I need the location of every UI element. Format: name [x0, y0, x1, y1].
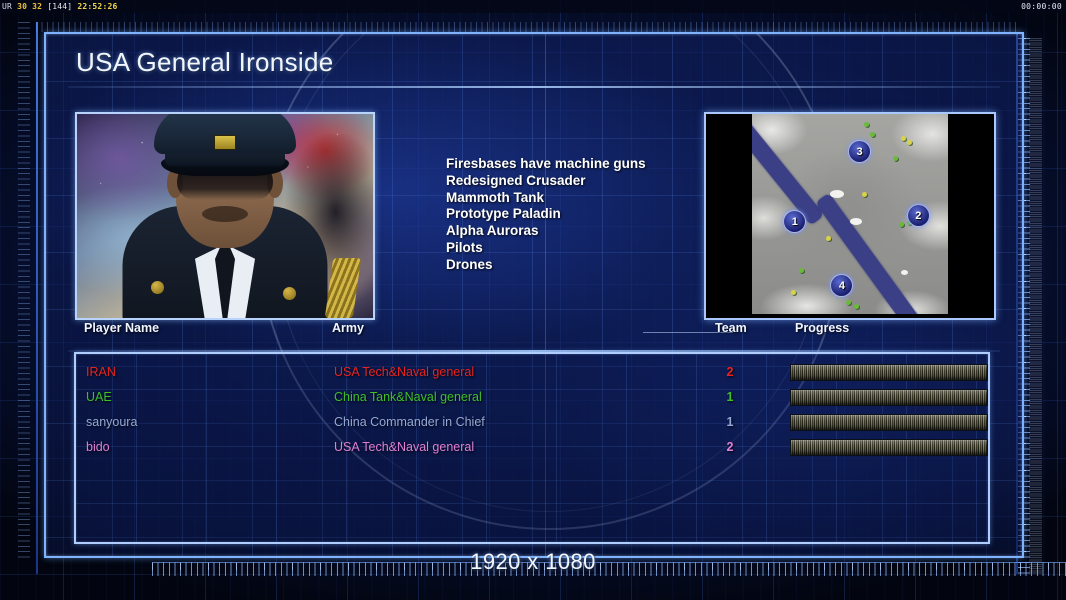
- right-ruler-shade: [1029, 38, 1042, 574]
- game-loading-screen: UR 30 32 [144] 22:52:26 00:00:00 USA Gen…: [0, 0, 1066, 600]
- player-team: 1: [720, 385, 740, 410]
- start-position-marker[interactable]: 3: [848, 140, 871, 163]
- ability-item: Mammoth Tank: [446, 190, 746, 207]
- column-header-team: Team: [715, 321, 747, 335]
- player-army: USA Tech&Naval general: [334, 435, 474, 460]
- main-panel: USA General Ironside: [44, 32, 1024, 558]
- player-name: sanyoura: [86, 410, 137, 435]
- table-row: bido USA Tech&Naval general 2: [76, 435, 988, 460]
- tree-cluster-icon: [864, 122, 869, 127]
- table-header-row: Player Name Army Team Progress: [46, 321, 1022, 343]
- tree-cluster-icon: [862, 192, 867, 197]
- uniform-button-left: [151, 281, 164, 294]
- player-army: USA Tech&Naval general: [334, 360, 474, 385]
- local-time: 22:52:26: [77, 2, 117, 11]
- left-ruler-strip: [18, 22, 30, 562]
- tree-cluster-icon: [870, 132, 875, 137]
- left-edge-line: [36, 22, 38, 574]
- resolution-label: 1920 x 1080: [0, 549, 1066, 575]
- player-progress-bar: [790, 364, 988, 381]
- net-ping: [144]: [47, 2, 72, 11]
- player-army: China Tank&Naval general: [334, 385, 482, 410]
- table-row: IRAN USA Tech&Naval general 2: [76, 360, 988, 385]
- player-progress-bar: [790, 414, 988, 431]
- general-portrait-frame: [75, 112, 375, 320]
- net-value-a: 30: [17, 2, 27, 11]
- player-army: China Commander in Chief: [334, 410, 485, 435]
- player-progress-bar: [790, 439, 988, 456]
- player-name: UAE: [86, 385, 112, 410]
- tree-cluster-icon: [907, 140, 912, 145]
- top-ruler-strip: [36, 22, 1016, 32]
- cap-insignia-icon: [214, 135, 236, 150]
- tree-cluster-icon: [901, 136, 906, 141]
- terrain-highlight: [850, 218, 862, 225]
- table-row: UAE China Tank&Naval general 1: [76, 385, 988, 410]
- players-table: IRAN USA Tech&Naval general 2 UAE China …: [74, 352, 990, 544]
- column-header-player-name: Player Name: [84, 321, 159, 335]
- general-info-section: Firesbases have machine guns Redesigned …: [46, 92, 1022, 338]
- ability-item: Drones: [446, 257, 746, 274]
- table-row: sanyoura China Commander in Chief 1: [76, 410, 988, 435]
- tree-cluster-icon: [854, 304, 859, 309]
- uniform-button-right: [283, 287, 296, 300]
- terrain-highlight: [901, 270, 908, 275]
- ability-item: Prototype Paladin: [446, 206, 746, 223]
- network-stats: UR 30 32 [144] 22:52:26: [2, 1, 118, 12]
- start-position-marker[interactable]: 2: [907, 204, 930, 227]
- river-segment: [752, 114, 824, 226]
- column-header-progress: Progress: [795, 321, 849, 335]
- general-portrait-image: [77, 114, 373, 318]
- game-clock: 00:00:00: [1021, 1, 1062, 12]
- player-name: IRAN: [86, 360, 116, 385]
- player-name: bido: [86, 435, 110, 460]
- net-label: UR: [2, 2, 12, 11]
- player-team: 1: [720, 410, 740, 435]
- net-value-b: 32: [32, 2, 42, 11]
- general-abilities-list: Firesbases have machine guns Redesigned …: [406, 156, 746, 274]
- title-divider: [68, 86, 1000, 88]
- ability-item: Alpha Auroras: [446, 223, 746, 240]
- minimap-frame: 1 2 3 4: [704, 112, 996, 320]
- column-header-army: Army: [332, 321, 364, 335]
- minimap-image: 1 2 3 4: [752, 114, 948, 314]
- tree-cluster-icon: [799, 268, 804, 273]
- ability-item: Firesbases have machine guns: [446, 156, 746, 173]
- page-title: USA General Ironside: [76, 47, 333, 78]
- ability-item: Pilots: [446, 240, 746, 257]
- player-team: 2: [720, 435, 740, 460]
- mouth-shadow: [202, 206, 248, 222]
- player-progress-bar: [790, 389, 988, 406]
- ability-item: Redesigned Crusader: [446, 173, 746, 190]
- player-team: 2: [720, 360, 740, 385]
- tree-cluster-icon: [899, 222, 904, 227]
- status-bar: UR 30 32 [144] 22:52:26 00:00:00: [0, 0, 1066, 13]
